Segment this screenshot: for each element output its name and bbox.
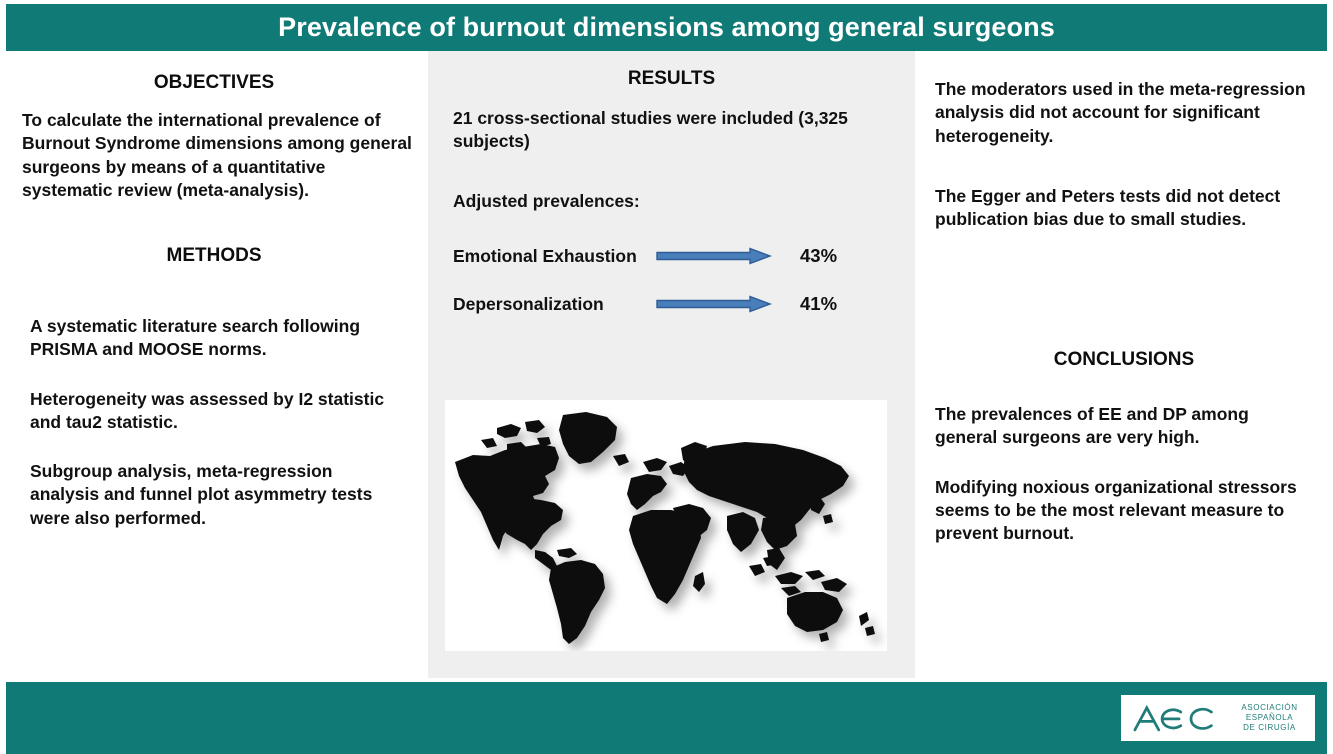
methods-heading: METHODS [0,245,428,267]
objectives-heading: OBJECTIVES [0,72,428,94]
conclusions-text-block: The prevalences of EE and DP among gener… [935,403,1313,545]
methods-paragraph: A systematic literature search following… [30,315,402,362]
poster-content: OBJECTIVES To calculate the internationa… [0,51,1333,682]
world-map-image [445,400,887,651]
metric-row: Depersonalization 41% [453,291,837,317]
moderators-text: The moderators used in the meta-regressi… [935,78,1309,148]
right-arrow-icon [656,295,772,313]
right-arrow-icon [656,247,772,265]
aec-logo-line-1: ASOCIACIÓN ESPAÑOLA [1224,703,1315,723]
metric-label: Emotional Exhaustion [453,246,656,267]
egger-peters-text: The Egger and Peters tests did not detec… [935,185,1309,232]
metric-value-wrapper: 41% [800,293,837,315]
page-title: Prevalence of burnout dimensions among g… [278,14,1055,41]
metric-label: Depersonalization [453,294,656,315]
aec-logo: ASOCIACIÓN ESPAÑOLA DE CIRUGÍA [1121,695,1315,741]
methods-text-block: A systematic literature search following… [30,315,402,530]
metric-value: 41% [800,293,837,314]
objectives-text: To calculate the international prevalenc… [22,109,412,202]
aec-logo-text: ASOCIACIÓN ESPAÑOLA DE CIRUGÍA [1224,703,1315,733]
results-heading: RESULTS [428,68,915,90]
adjusted-prevalences-label: Adjusted prevalences: [453,190,873,213]
metric-value: 43% [800,245,837,266]
metric-row: Emotional Exhaustion 43% [453,243,837,269]
aec-logo-mark-icon [1131,701,1217,735]
poster-footer-bar: ASOCIACIÓN ESPAÑOLA DE CIRUGÍA [6,682,1327,754]
aec-logo-line-2: DE CIRUGÍA [1224,723,1315,733]
metric-value-wrapper: 43% [800,245,837,267]
methods-paragraph: Heterogeneity was assessed by I2 statist… [30,388,402,435]
conclusions-paragraph: The prevalences of EE and DP among gener… [935,403,1313,450]
studies-included-text: 21 cross-sectional studies were included… [453,107,873,154]
world-map-silhouette-icon [445,400,887,651]
metric-arrow-wrapper [656,247,774,265]
poster-header-bar: Prevalence of burnout dimensions among g… [6,4,1327,51]
methods-paragraph: Subgroup analysis, meta-regression analy… [30,460,402,530]
conclusions-heading: CONCLUSIONS [915,349,1333,371]
metric-arrow-wrapper [656,295,774,313]
conclusions-paragraph: Modifying noxious organizational stresso… [935,476,1313,546]
